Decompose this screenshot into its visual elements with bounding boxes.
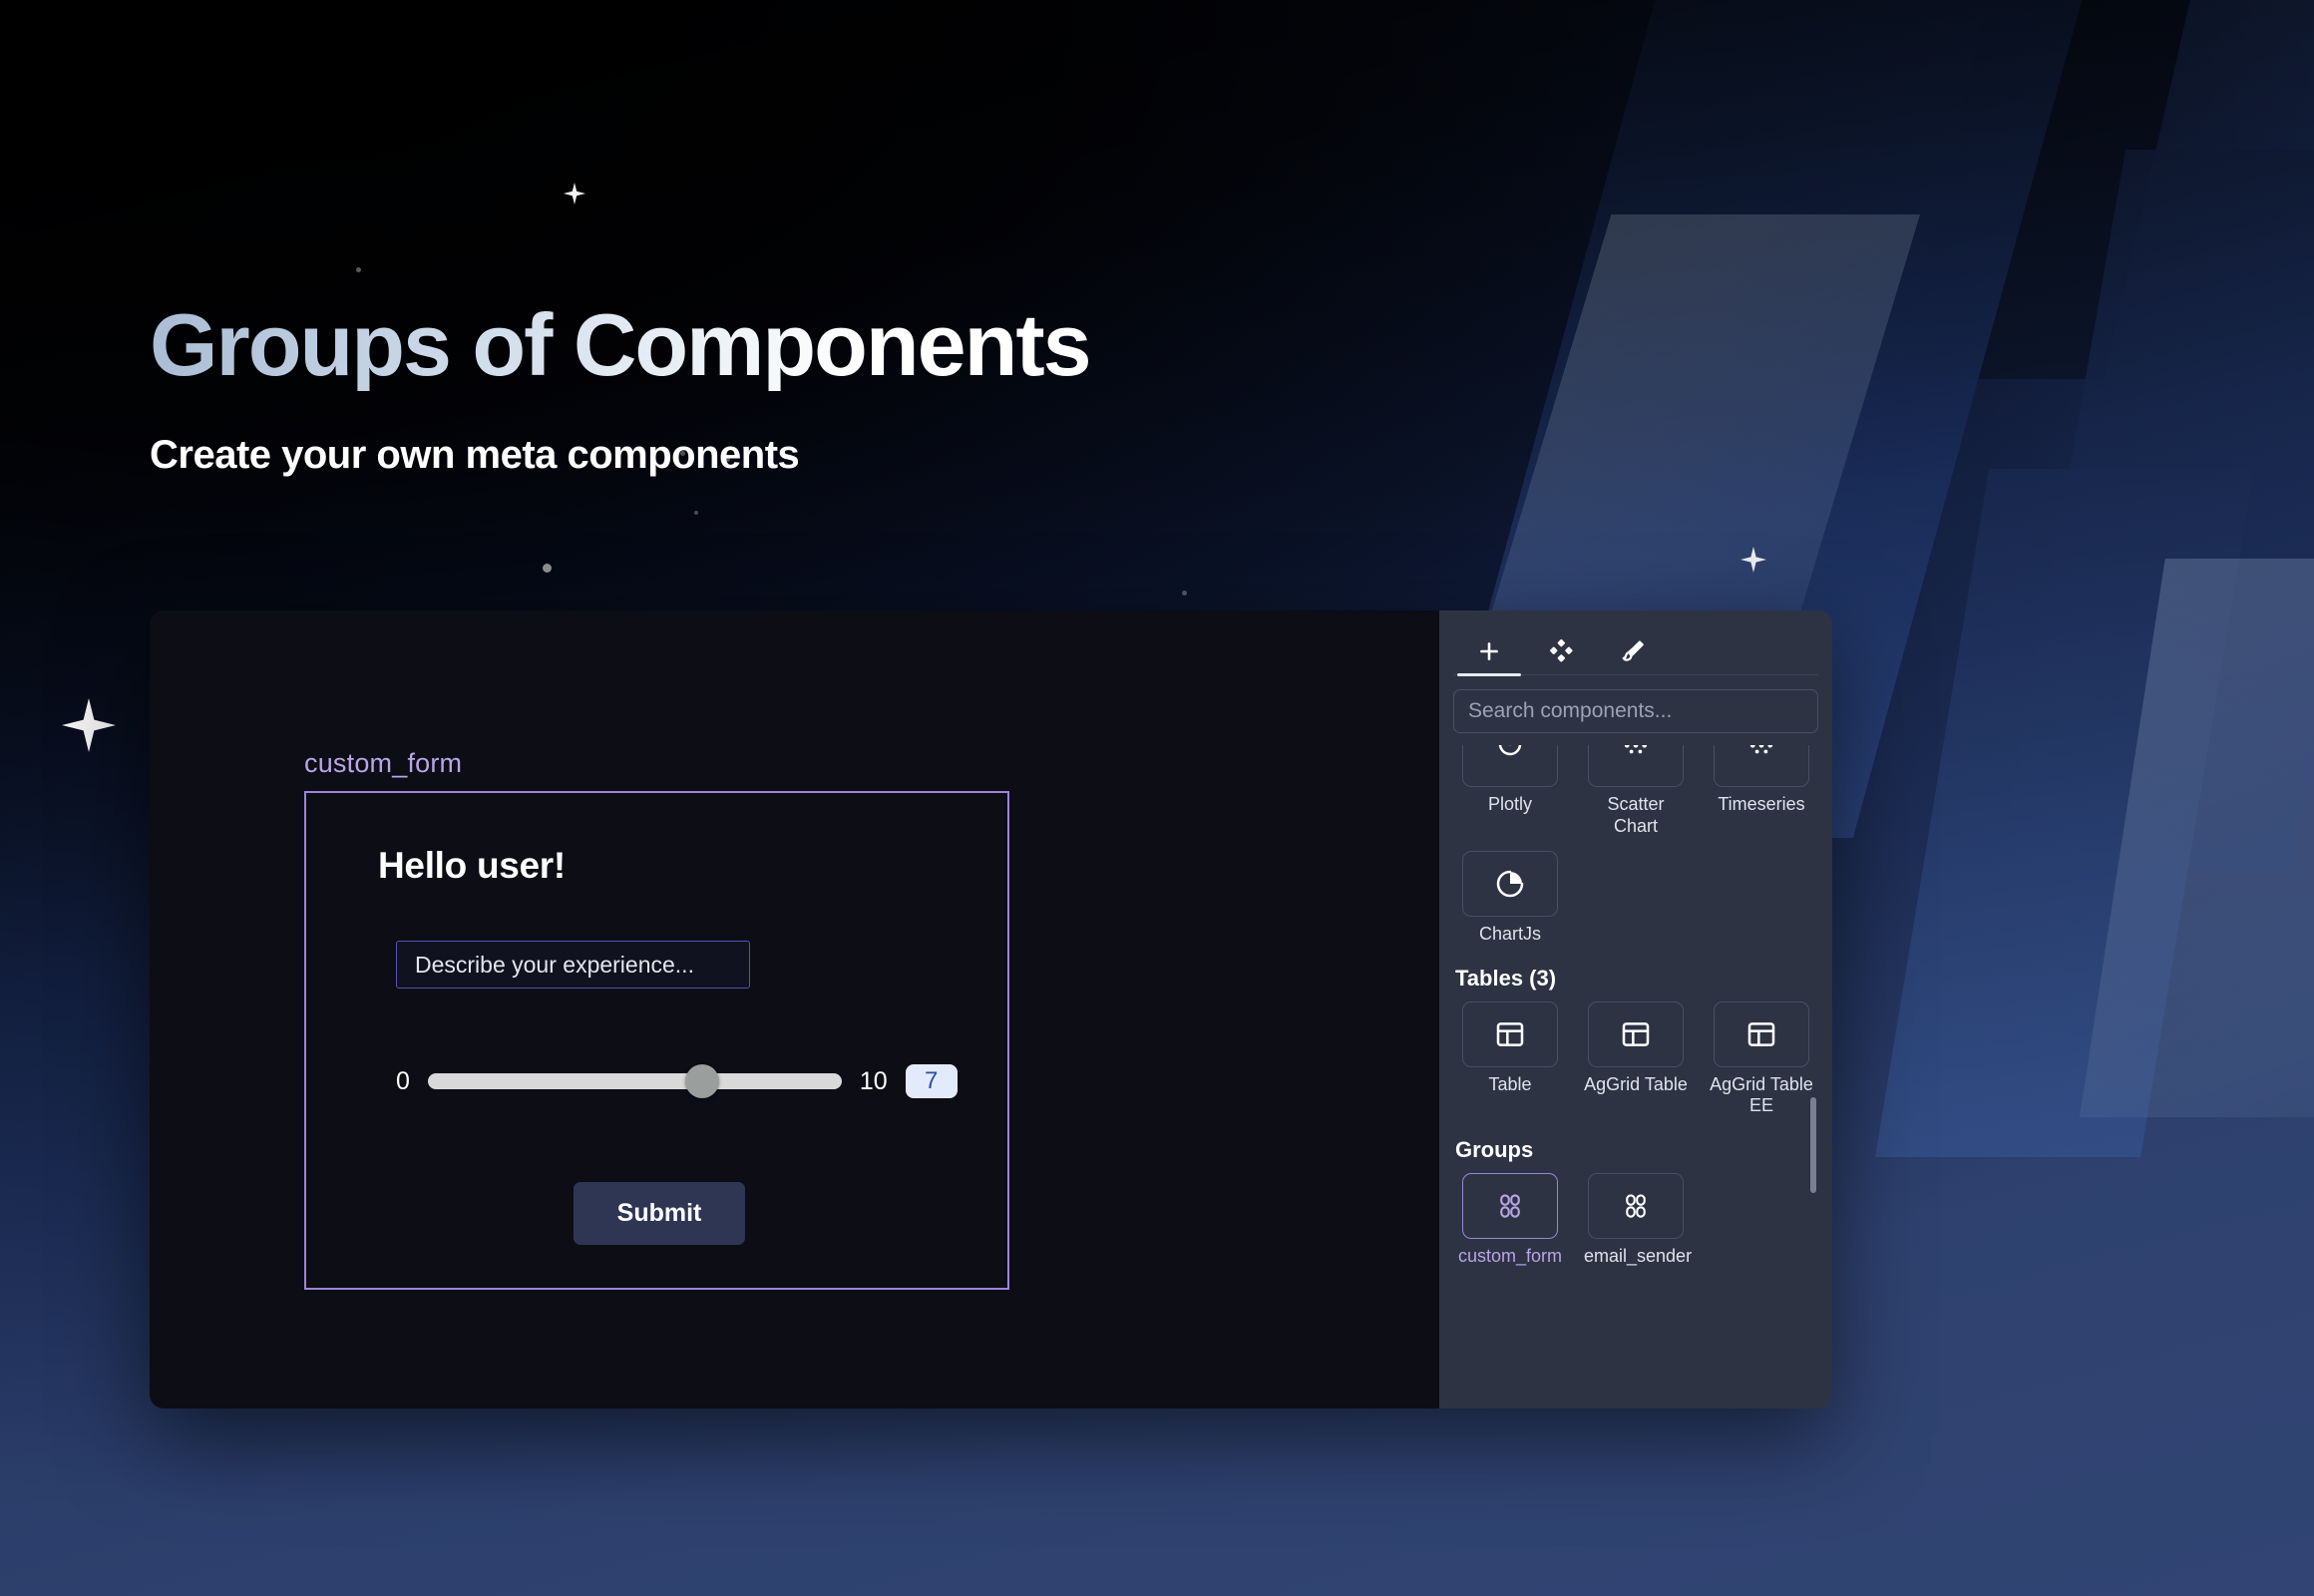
group-boxes-icon: [1588, 1173, 1684, 1239]
page-subtitle: Create your own meta components: [150, 433, 1090, 478]
palette-tile-chartjs[interactable]: ChartJs: [1453, 851, 1567, 950]
table-icon: [1462, 1001, 1558, 1067]
palette-tile-email-sender[interactable]: email_sender: [1579, 1173, 1693, 1272]
slider-value-badge: 7: [906, 1064, 958, 1098]
palette-scrollbar-thumb[interactable]: [1810, 1097, 1816, 1193]
pie-chart-icon: [1462, 851, 1558, 917]
palette-tile-label: ChartJs: [1479, 924, 1541, 946]
decorative-dot: [694, 511, 698, 515]
slider-thumb[interactable]: [685, 1064, 719, 1098]
page-title: Groups of Components: [150, 299, 1090, 391]
palette-tile-label: Table: [1488, 1074, 1531, 1096]
palette-tile-aggrid-table[interactable]: AgGrid Table: [1579, 1001, 1693, 1121]
timeseries-chart-icon: [1714, 745, 1809, 787]
sparkle-star-icon: [564, 183, 585, 204]
hex-shape-mid-blue: [1875, 469, 2254, 1157]
palette-tile-label: AgGrid Table EE: [1710, 1074, 1813, 1117]
sparkle-star-icon: [62, 698, 116, 752]
palette-tile-plotly[interactable]: Plotly: [1453, 745, 1567, 841]
component-palette-sidebar: Plotly Scatter Chart: [1439, 610, 1832, 1408]
palette-tile-aggrid-table-ee[interactable]: AgGrid Table EE: [1705, 1001, 1818, 1121]
experience-input[interactable]: [396, 941, 750, 989]
slider-min-label: 0: [396, 1067, 410, 1096]
palette-tile-timeseries[interactable]: Timeseries: [1705, 745, 1818, 841]
palette-tile-label: email_sender: [1584, 1246, 1688, 1268]
tables-section-title: Tables (3): [1455, 966, 1818, 992]
table-icon: [1588, 1001, 1684, 1067]
group-boundary-box[interactable]: Hello user! 0 10 7 Submit: [304, 791, 1009, 1290]
sidebar-tabs: [1453, 610, 1818, 675]
hex-shape-right-blue: [2000, 150, 2314, 868]
sparkle-star-icon: [1740, 547, 1766, 573]
palette-tile-label: custom_form: [1458, 1246, 1562, 1268]
search-input[interactable]: [1453, 689, 1818, 733]
decorative-dot: [356, 267, 361, 272]
palette-tile-table[interactable]: Table: [1453, 1001, 1567, 1121]
group-boxes-icon: [1462, 1173, 1558, 1239]
plotly-chart-icon: [1462, 745, 1558, 787]
page-root: Groups of Components Create your own met…: [0, 0, 2314, 1596]
scatter-chart-icon: [1588, 745, 1684, 787]
palette-tile-label: Scatter Chart: [1584, 794, 1688, 837]
decorative-dot: [543, 564, 552, 573]
charts-tile-row-2: ChartJs: [1453, 851, 1818, 950]
palette-tile-label: AgGrid Table: [1584, 1074, 1688, 1096]
component-group-wrapper: custom_form Hello user! 0 10 7 Submit: [304, 748, 1009, 1290]
editor-canvas[interactable]: custom_form Hello user! 0 10 7 Submit: [150, 610, 1439, 1408]
hex-shape-light-panel: [1491, 214, 1920, 613]
charts-tile-row-clipped: Plotly Scatter Chart: [1453, 745, 1818, 841]
component-palette-scroll[interactable]: Plotly Scatter Chart: [1453, 743, 1818, 1408]
theme-tab[interactable]: [1597, 628, 1669, 674]
tables-tile-row: Table AgGrid Table: [1453, 1001, 1818, 1121]
slider-track[interactable]: [428, 1073, 842, 1089]
app-window: custom_form Hello user! 0 10 7 Submit: [150, 610, 1832, 1408]
sparkle-diamond-icon: [1548, 638, 1574, 664]
paintbrush-icon: [1620, 638, 1646, 664]
hero-heading-block: Groups of Components Create your own met…: [150, 299, 1090, 478]
hex-shape-light-panel-2: [2080, 559, 2314, 1117]
plus-icon: [1476, 638, 1502, 664]
submit-button[interactable]: Submit: [574, 1182, 745, 1245]
groups-section-title: Groups: [1455, 1137, 1818, 1163]
greeting-text: Hello user!: [378, 845, 566, 887]
palette-tile-scatter-chart[interactable]: Scatter Chart: [1579, 745, 1693, 841]
ai-components-tab[interactable]: [1525, 628, 1597, 674]
slider-max-label: 10: [860, 1067, 888, 1096]
rating-slider-row: 0 10 7: [396, 1064, 958, 1098]
search-wrapper: [1453, 675, 1818, 743]
groups-tile-row: custom_form email_sender: [1453, 1173, 1818, 1272]
add-components-tab[interactable]: [1453, 628, 1525, 674]
table-icon: [1714, 1001, 1809, 1067]
group-label: custom_form: [304, 748, 1009, 779]
hex-shape-dark-top: [1900, 0, 2199, 379]
palette-tile-custom-form[interactable]: custom_form: [1453, 1173, 1567, 1272]
palette-tile-label: Plotly: [1488, 794, 1532, 816]
palette-tile-label: Timeseries: [1718, 794, 1804, 816]
decorative-dot: [1182, 591, 1187, 596]
